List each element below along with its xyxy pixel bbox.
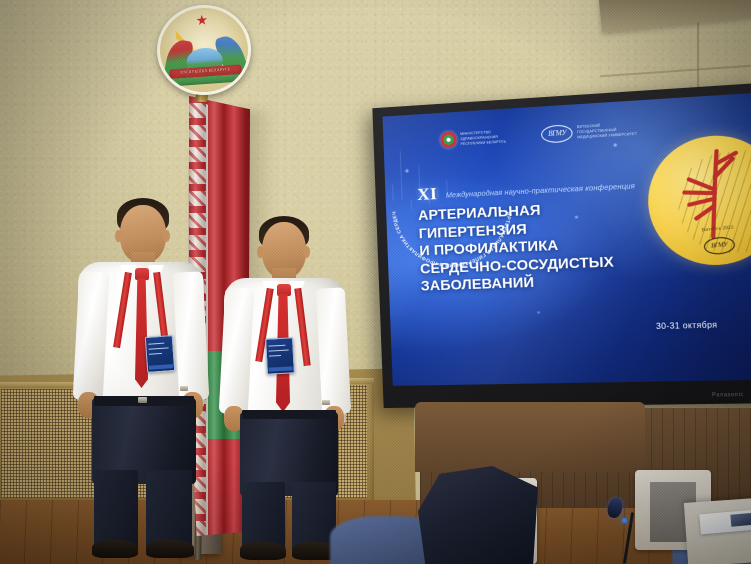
badge-text-line (269, 355, 281, 357)
ear (303, 246, 310, 258)
display-screen: МИНИСТЕРСТВО ЗДРАВООХРАНЕНИЯ РЕСПУБЛИКИ … (383, 93, 751, 386)
belt-buckle (138, 397, 147, 403)
badge-footer-bar (149, 364, 173, 370)
vsmu-label: ВИТЕБСКИЙ ГОСУДАРСТВЕННЫЙ МЕДИЦИНСКИЙ УН… (577, 122, 637, 140)
badge-text-line (149, 347, 169, 350)
papers-on-table[interactable] (699, 510, 751, 535)
badge-text-line (149, 353, 162, 355)
badge-text-line (269, 350, 289, 352)
belt (242, 410, 336, 419)
printed-image (730, 513, 751, 527)
draped-jacket[interactable] (418, 466, 538, 564)
svg-text:АРТЕРИАЛЬНАЯ ГИПЕРТЕНЗИЯ И ПРО: АРТЕРИАЛЬНАЯ ГИПЕРТЕНЗИЯ И ПРОФИЛАКТИКА … (383, 127, 514, 271)
presentation-display[interactable]: МИНИСТЕРСТВО ЗДРАВООХРАНЕНИЯ РЕСПУБЛИКИ … (372, 83, 751, 408)
wristwatch (322, 400, 330, 405)
ear (115, 230, 122, 242)
emblem-ribbon: РЭСПУБЛІКА БЕЛАРУСЬ (169, 64, 242, 86)
ear (257, 246, 264, 258)
leg-left (242, 482, 285, 550)
badge-footer-bar (269, 366, 293, 371)
emblem-ring-text: АРТЕРИАЛЬНАЯ ГИПЕРТЕНЗИЯ И ПРОФИЛАКТИКА … (383, 127, 532, 286)
conference-badge (265, 337, 295, 374)
display-brand-label: Panasonic (712, 392, 744, 399)
slide-date: 30-31 октября (656, 320, 718, 331)
badge-text-line (148, 343, 164, 346)
microphone-indicator-led (622, 518, 627, 523)
badge-text-line (268, 345, 285, 347)
ear (163, 230, 170, 242)
conference-badge (145, 335, 175, 373)
conference-photo: РЭСПУБЛІКА БЕЛАРУСЬ МИНИСТЕРСТВО ЗДРАВОО… (0, 0, 751, 564)
shoe-left (92, 540, 138, 558)
vsmu-icon: ВГМУ (541, 124, 573, 143)
shoe-left (240, 542, 286, 560)
leg-left (94, 470, 138, 548)
leg-right (146, 470, 192, 548)
shoe-right (146, 540, 194, 558)
podium (415, 402, 645, 472)
emblem-ring-label: АРТЕРИАЛЬНАЯ ГИПЕРТЕНЗИЯ И ПРОФИЛАКТИКА … (383, 127, 514, 271)
wristwatch (180, 386, 188, 391)
